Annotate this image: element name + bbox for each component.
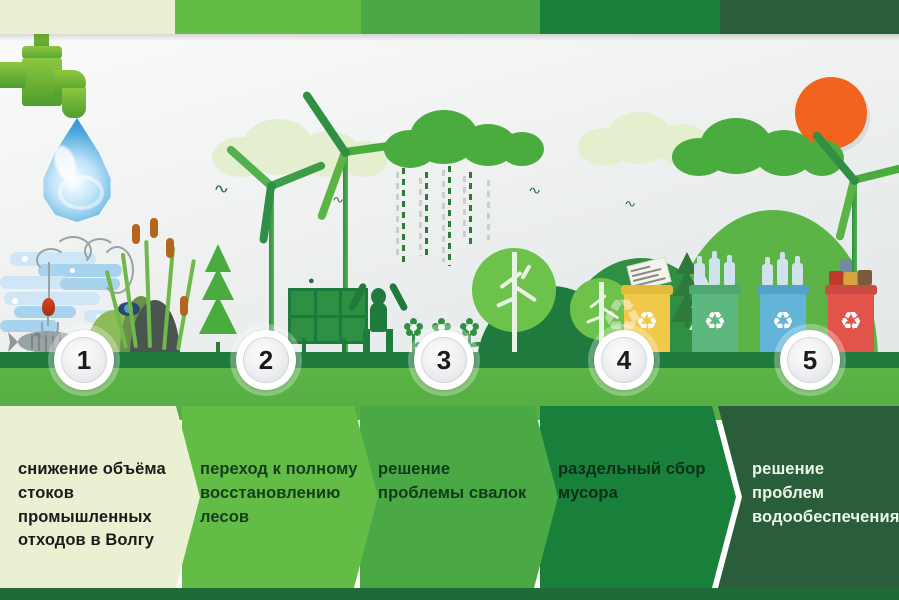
bird-icon: ∿: [528, 186, 542, 197]
glass-bottle-icon: [709, 258, 720, 287]
recycle-symbol-icon: ♻: [840, 310, 862, 335]
tin-can-icon: [844, 272, 857, 285]
illustration-scene: ∿ ∿ ∿ ∿: [0, 0, 899, 365]
step-number-circle-2[interactable]: 2: [236, 330, 296, 390]
cattail-reeds-icon: [150, 218, 158, 238]
step-number-circle-3[interactable]: 3: [414, 330, 474, 390]
cattail-reeds-icon: [180, 296, 188, 316]
step-number-2: 2: [243, 337, 289, 383]
step-panel-2[interactable]: переход к полному восстановлению лесов: [182, 406, 378, 588]
topbar-segment-1: [0, 0, 175, 34]
plastic-bottle-icon: [792, 263, 803, 287]
deciduous-tree-icon: [472, 248, 556, 360]
rain-drop-icon: [402, 168, 405, 264]
step-panel-4[interactable]: раздельный сбор мусора: [540, 406, 736, 588]
tin-can-icon: [858, 270, 872, 285]
person-raised-arms-icon: [356, 288, 400, 360]
recycle-symbol-icon: ♻: [704, 310, 726, 335]
fishing-bobber-icon: [42, 298, 55, 316]
step-panel-5[interactable]: решение проблем водообеспечения: [718, 406, 899, 588]
step-text-4: раздельный сбор мусора: [558, 458, 716, 506]
rain-drop-icon: [425, 172, 428, 260]
step-panel-1[interactable]: снижение объёма стоков промышленных отхо…: [0, 406, 200, 588]
topbar-segment-5: [720, 0, 899, 34]
glass-bottle-icon: [694, 263, 705, 287]
step-text-2: переход к полному восстановлению лесов: [200, 458, 358, 529]
bottom-bar: [0, 588, 899, 600]
recycle-bin-icon: ♻: [692, 285, 738, 355]
step-text-1: снижение объёма стоков промышленных отхо…: [18, 458, 180, 553]
eco-infographic-poster: ∿ ∿ ∿ ∿: [0, 0, 899, 600]
plastic-bottle-icon: [762, 264, 773, 287]
rain-drop-icon: [469, 172, 472, 246]
rain-drop-icon: [419, 178, 422, 256]
step-number-1: 1: [61, 337, 107, 383]
glass-bottle-icon: [724, 262, 735, 287]
topbar-segment-3: [361, 0, 540, 34]
step-number-circle-1[interactable]: 1: [54, 330, 114, 390]
rain-drop-icon: [487, 180, 490, 240]
cattail-reeds-icon: [132, 224, 140, 244]
bird-icon: ∿: [624, 200, 637, 210]
water-drop-icon: [38, 118, 116, 222]
steps-section: снижение объёма стоков промышленных отхо…: [0, 358, 899, 600]
step-number-3: 3: [421, 337, 467, 383]
tin-can-icon: [829, 271, 843, 285]
topbar-segment-4: [540, 0, 720, 34]
topbar-segment-2: [175, 0, 361, 34]
step-number-5: 5: [787, 337, 833, 383]
fishing-line: [48, 262, 50, 302]
step-number-circle-4[interactable]: 4: [594, 330, 654, 390]
fish-hook-icon: [41, 322, 59, 336]
top-color-bar: [0, 0, 899, 34]
rain-drop-icon: [442, 170, 445, 262]
step-number-4: 4: [601, 337, 647, 383]
plastic-bottle-icon: [777, 259, 788, 287]
cattail-reeds-icon: [166, 238, 174, 258]
step-text-5: решение проблем водообеспечения: [752, 458, 879, 529]
rain-drop-icon: [463, 176, 466, 242]
step-text-3: решение проблемы свалок: [378, 458, 538, 506]
bird-icon: ●: [308, 276, 315, 287]
rain-drop-icon: [448, 166, 451, 266]
step-number-circle-5[interactable]: 5: [780, 330, 840, 390]
step-panel-3[interactable]: решение проблемы свалок: [360, 406, 558, 588]
